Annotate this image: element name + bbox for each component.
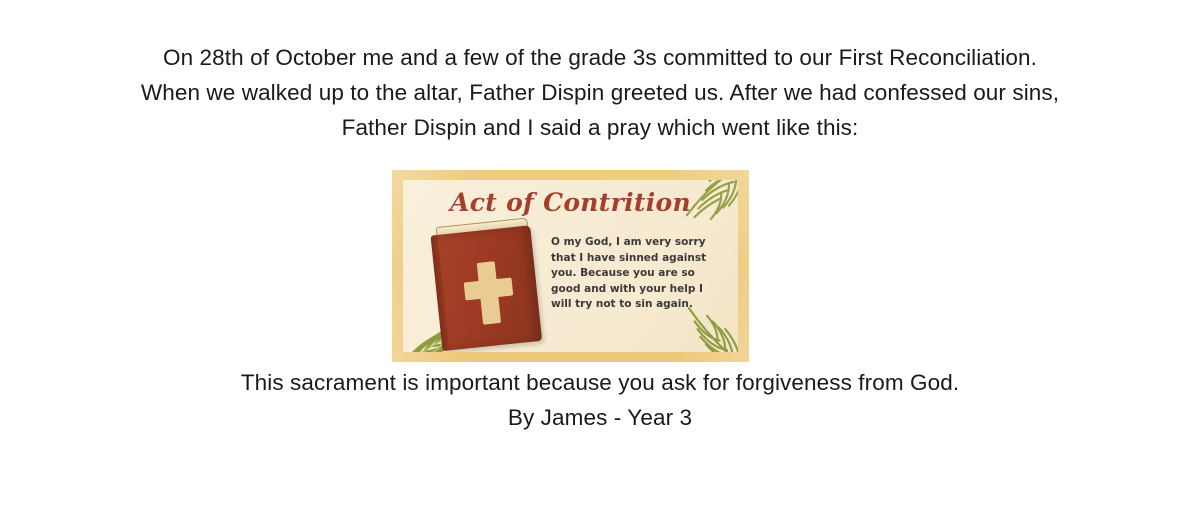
byline: By James - Year 3 (0, 400, 1200, 435)
closing-line-1: This sacrament is important because you … (0, 365, 1200, 400)
intro-line-3: Father Dispin and I said a pray which we… (0, 110, 1200, 145)
intro-line-2: When we walked up to the altar, Father D… (0, 75, 1200, 110)
book-spine (431, 235, 450, 351)
prayer-line-2: that I have sinned against (551, 251, 719, 267)
prayer-line-3: you. Because you are so (551, 266, 719, 282)
prayer-line-1: O my God, I am very sorry (551, 235, 719, 251)
prayer-line-5: will try not to sin again. (551, 297, 719, 313)
card-title: Act of Contrition (403, 188, 738, 217)
prayer-line-4: good and with your help I (551, 282, 719, 298)
intro-paragraph: On 28th of October me and a few of the g… (0, 40, 1200, 145)
closing-paragraph: This sacrament is important because you … (0, 365, 1200, 435)
act-of-contrition-card: Act of Contrition O my God, I am very so… (392, 170, 749, 362)
card-inner-panel: Act of Contrition O my God, I am very so… (403, 180, 738, 352)
book-cover (431, 225, 543, 351)
prayer-text: O my God, I am very sorry that I have si… (551, 235, 719, 313)
bible-book-icon (430, 217, 546, 352)
document-page: On 28th of October me and a few of the g… (0, 0, 1200, 520)
intro-line-1: On 28th of October me and a few of the g… (0, 40, 1200, 75)
cross-icon-horizontal (464, 278, 514, 301)
